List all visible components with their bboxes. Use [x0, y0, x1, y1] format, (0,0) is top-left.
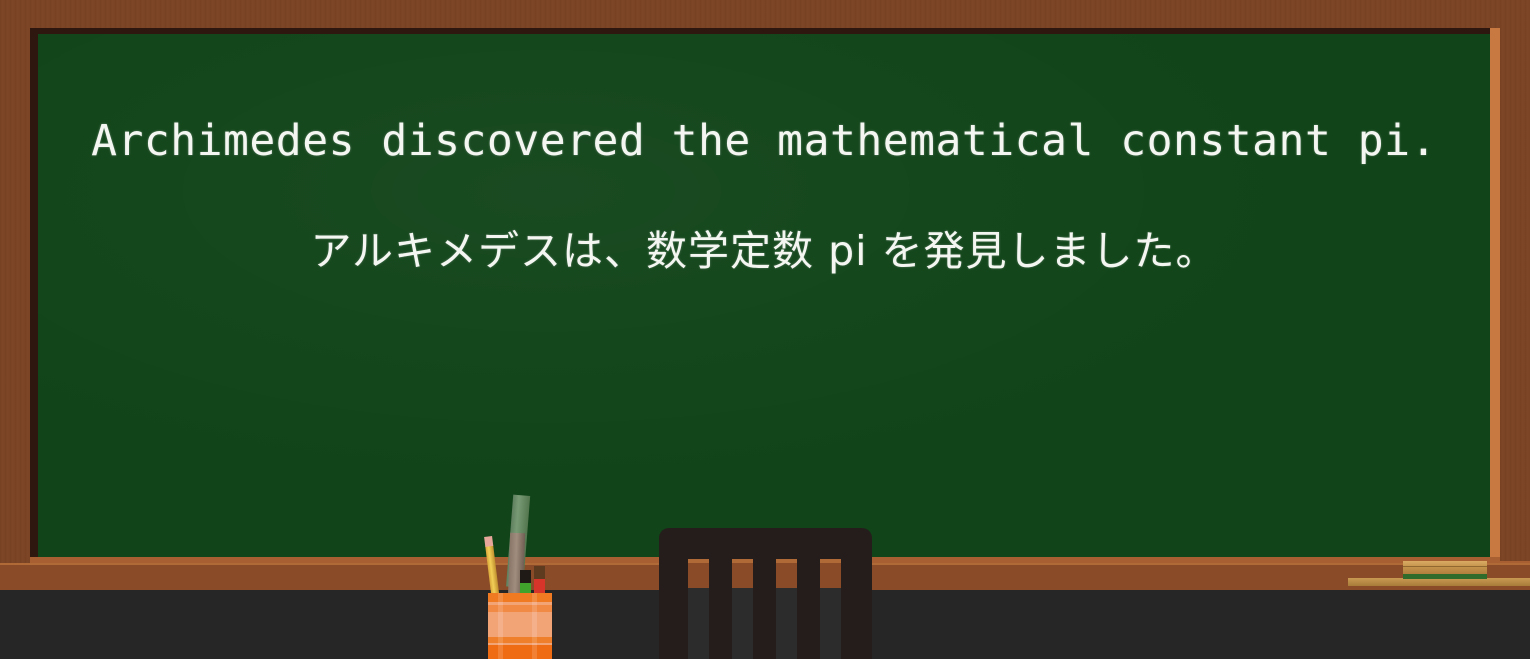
stacked-books[interactable]: [1348, 558, 1530, 588]
cup-vertical-stripe: [532, 593, 537, 659]
chair-slat-gap: [688, 559, 709, 659]
blackboard-scene: Archimedes discovered the mathematical c…: [0, 0, 1530, 659]
chalk-text-block: Archimedes discovered the mathematical c…: [38, 34, 1490, 557]
chair[interactable]: [659, 528, 872, 659]
pencil-cup-group[interactable]: [470, 495, 580, 659]
chalk-line-english: Archimedes discovered the mathematical c…: [38, 116, 1490, 166]
chair-slat-gap: [776, 559, 797, 659]
cup-vertical-stripe: [498, 593, 503, 659]
eraser-tip: [484, 536, 493, 547]
chair-slat-gap: [820, 559, 841, 659]
board-surface[interactable]: Archimedes discovered the mathematical c…: [38, 34, 1490, 557]
book-tan: [1403, 561, 1487, 574]
long-ruler: [1348, 578, 1530, 586]
board-right-highlight: [1490, 28, 1500, 563]
chair-slat-gap: [732, 559, 753, 659]
chalk-line-japanese: アルキメデスは、数学定数 pi を発見しました。: [38, 217, 1490, 277]
chalkboard[interactable]: Archimedes discovered the mathematical c…: [30, 28, 1500, 563]
pencil-cup[interactable]: [488, 593, 552, 659]
book-page-line: [1403, 566, 1487, 567]
